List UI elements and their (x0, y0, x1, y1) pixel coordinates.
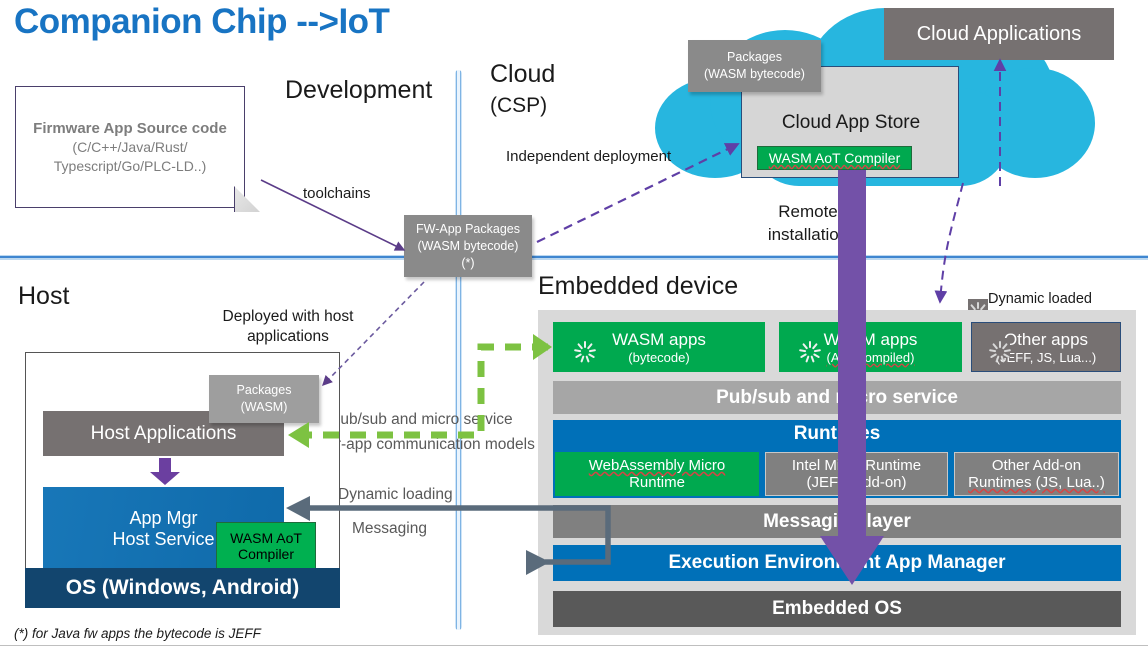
embedded-app-manager-label: Execution Environment App Manager (668, 552, 1005, 574)
embedded-app-2-dynamic-icon (990, 338, 1010, 358)
vertical-divider (455, 70, 462, 630)
firmware-source-code-box: Firmware App Source code (C/C++/Java/Rus… (15, 86, 245, 208)
embedded-runtime-2-l1: Other Add-on (992, 457, 1081, 474)
embedded-os[interactable]: Embedded OS (553, 591, 1121, 627)
cloud-wasm-aot-compiler-box[interactable]: WASM AoT Compiler (757, 146, 912, 170)
host-os-box[interactable]: OS (Windows, Android) (25, 568, 340, 608)
label-remote-installation-2: installation (752, 225, 864, 245)
label-deployed-with-host-1: Deployed with host (208, 308, 368, 326)
label-toolchains: toolchains (303, 185, 371, 202)
embedded-runtime-1-l2: (JEFF, Add-on) (806, 474, 906, 491)
embedded-runtime-2[interactable]: Other Add-on Runtimes (JS, Lua..) (954, 452, 1119, 496)
fw-packages-l2: (WASM bytecode) (418, 238, 519, 255)
embedded-app-2-name: Other apps (1004, 330, 1088, 350)
footnote: (*) for Java fw apps the bytecode is JEF… (14, 626, 261, 641)
section-header-host: Host (18, 282, 69, 311)
embedded-runtime-1-l1: Intel Micro Runtime (792, 457, 921, 474)
callout-cloud-packages-l2: (WASM bytecode) (704, 66, 805, 83)
callout-cloud-packages: Packages (WASM bytecode) (688, 40, 821, 92)
embedded-runtime-0-l2: Runtime (629, 474, 685, 491)
embedded-runtime-0[interactable]: WebAssembly Micro Runtime (555, 452, 759, 496)
embedded-app-0-dynamic-icon (575, 338, 595, 358)
source-box-corner-fold (234, 186, 260, 212)
label-dynamic-loaded: Dynamic loaded (988, 291, 1092, 307)
host-applications-label: Host Applications (91, 423, 237, 445)
bottom-rule (0, 645, 1148, 646)
label-messaging: Messaging (352, 520, 427, 538)
embedded-runtime-2-l2: Runtimes (JS, Lua..) (968, 474, 1105, 491)
embedded-app-0-sub: (bytecode) (628, 350, 689, 365)
embedded-app-manager[interactable]: Execution Environment App Manager (553, 545, 1121, 581)
embedded-app-1-dynamic-icon (800, 338, 820, 358)
embedded-pubsub-layer[interactable]: Pub/sub and micro service (553, 381, 1121, 414)
section-header-embedded-device: Embedded device (538, 272, 738, 301)
embedded-runtime-0-l1: WebAssembly Micro (589, 457, 725, 474)
embedded-runtimes-title: Runtimes (553, 422, 1121, 446)
embedded-app-1-sub: (AoT compiled) (827, 350, 915, 365)
label-dynamic-loading: Dynamic loading (338, 486, 453, 504)
embedded-app-1-name: WASM apps (824, 330, 918, 350)
cloud-app-store-title: Cloud App Store (742, 109, 960, 137)
host-internal-down-arrow (148, 458, 182, 486)
label-pubsub-micro-service: Pub/sub and micro service (330, 411, 513, 429)
fw-packages-l3: (*) (461, 255, 474, 272)
cloud-applications-box[interactable]: Cloud Applications (884, 8, 1114, 60)
embedded-runtime-1[interactable]: Intel Micro Runtime (JEFF, Add-on) (765, 452, 948, 496)
source-box-line1: (C/C++/Java/Rust/ (72, 138, 187, 157)
source-box-title: Firmware App Source code (33, 119, 227, 138)
fw-packages-l1: FW-App Packages (416, 221, 520, 238)
label-inter-app-models: Inter-app communication models (310, 436, 535, 454)
diagram-canvas: Companion Chip -->IoT Development Cloud … (0, 0, 1148, 653)
callout-fw-app-packages: FW-App Packages (WASM bytecode) (*) (404, 215, 532, 277)
app-mgr-line2: Host Service (112, 529, 214, 550)
label-remote-installation-1: Remote (760, 202, 856, 222)
cloud-aot-compiler-label: WASM AoT Compiler (769, 150, 900, 166)
embedded-os-label: Embedded OS (772, 598, 902, 620)
host-wasm-aot-compiler-box[interactable]: WASM AoT Compiler (216, 522, 316, 569)
host-packages-l2: (WASM) (241, 399, 288, 416)
host-packages-l1: Packages (237, 382, 292, 399)
horizontal-divider (0, 255, 1148, 260)
section-header-development: Development (285, 76, 432, 105)
source-box-line2: Typescript/Go/PLC-LD..) (54, 157, 207, 176)
embedded-app-0-name: WASM apps (612, 330, 706, 350)
host-os-label: OS (Windows, Android) (66, 576, 300, 600)
embedded-messaging-layer[interactable]: Messaging layer (553, 505, 1121, 538)
callout-cloud-packages-l1: Packages (727, 49, 782, 66)
embedded-pubsub-label: Pub/sub and micro service (716, 387, 958, 409)
arrow-cloudapp-to-device (940, 183, 963, 302)
label-independent-deployment: Independent deployment (506, 148, 671, 165)
app-mgr-line1: App Mgr (129, 508, 197, 529)
host-aot-l1: WASM AoT (230, 530, 302, 546)
callout-host-packages: Packages (WASM) (209, 375, 319, 423)
cloud-applications-label: Cloud Applications (917, 23, 1082, 46)
section-header-cloud: Cloud (490, 60, 555, 89)
section-header-cloud-sub: (CSP) (490, 94, 547, 118)
label-deployed-with-host-2: applications (208, 328, 368, 346)
host-aot-l2: Compiler (238, 546, 294, 562)
page-title: Companion Chip -->IoT (14, 2, 389, 42)
embedded-messaging-label: Messaging layer (763, 511, 911, 533)
embedded-app-2-sub: (JEFF, JS, Lua...) (996, 350, 1096, 365)
